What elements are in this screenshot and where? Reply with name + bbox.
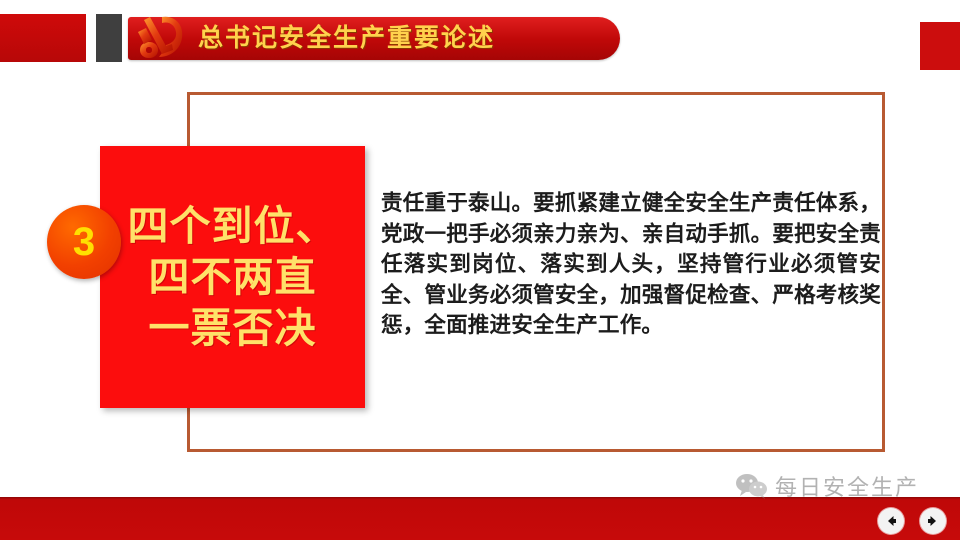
watermark: 每日安全生产: [735, 470, 919, 502]
number-badge: 3: [47, 205, 121, 279]
party-emblem-icon: [132, 12, 188, 66]
bottom-red-bar: [0, 497, 960, 540]
arrow-right-icon: [926, 514, 940, 528]
navigation-buttons: [878, 508, 946, 534]
wechat-icon: [735, 472, 769, 500]
header-dark-block: [96, 14, 122, 62]
watermark-text: 每日安全生产: [775, 470, 919, 502]
top-right-red-block: [920, 22, 960, 70]
number-badge-label: 3: [73, 222, 95, 262]
heading-box: 四个到位、 四不两直 一票否决: [100, 146, 365, 408]
heading-line-1: 四个到位、: [128, 201, 338, 252]
header-red-block: [0, 14, 86, 62]
heading-line-2: 四不两直: [149, 252, 317, 303]
heading-line-3: 一票否决: [149, 303, 317, 354]
next-slide-button[interactable]: [920, 508, 946, 534]
body-paragraph: 责任重于泰山。要抓紧建立健全安全生产责任体系，党政一把手必须亲力亲为、亲自动手抓…: [381, 188, 881, 341]
arrow-left-icon: [884, 514, 898, 528]
header-title: 总书记安全生产重要论述: [198, 22, 618, 55]
previous-slide-button[interactable]: [878, 508, 904, 534]
